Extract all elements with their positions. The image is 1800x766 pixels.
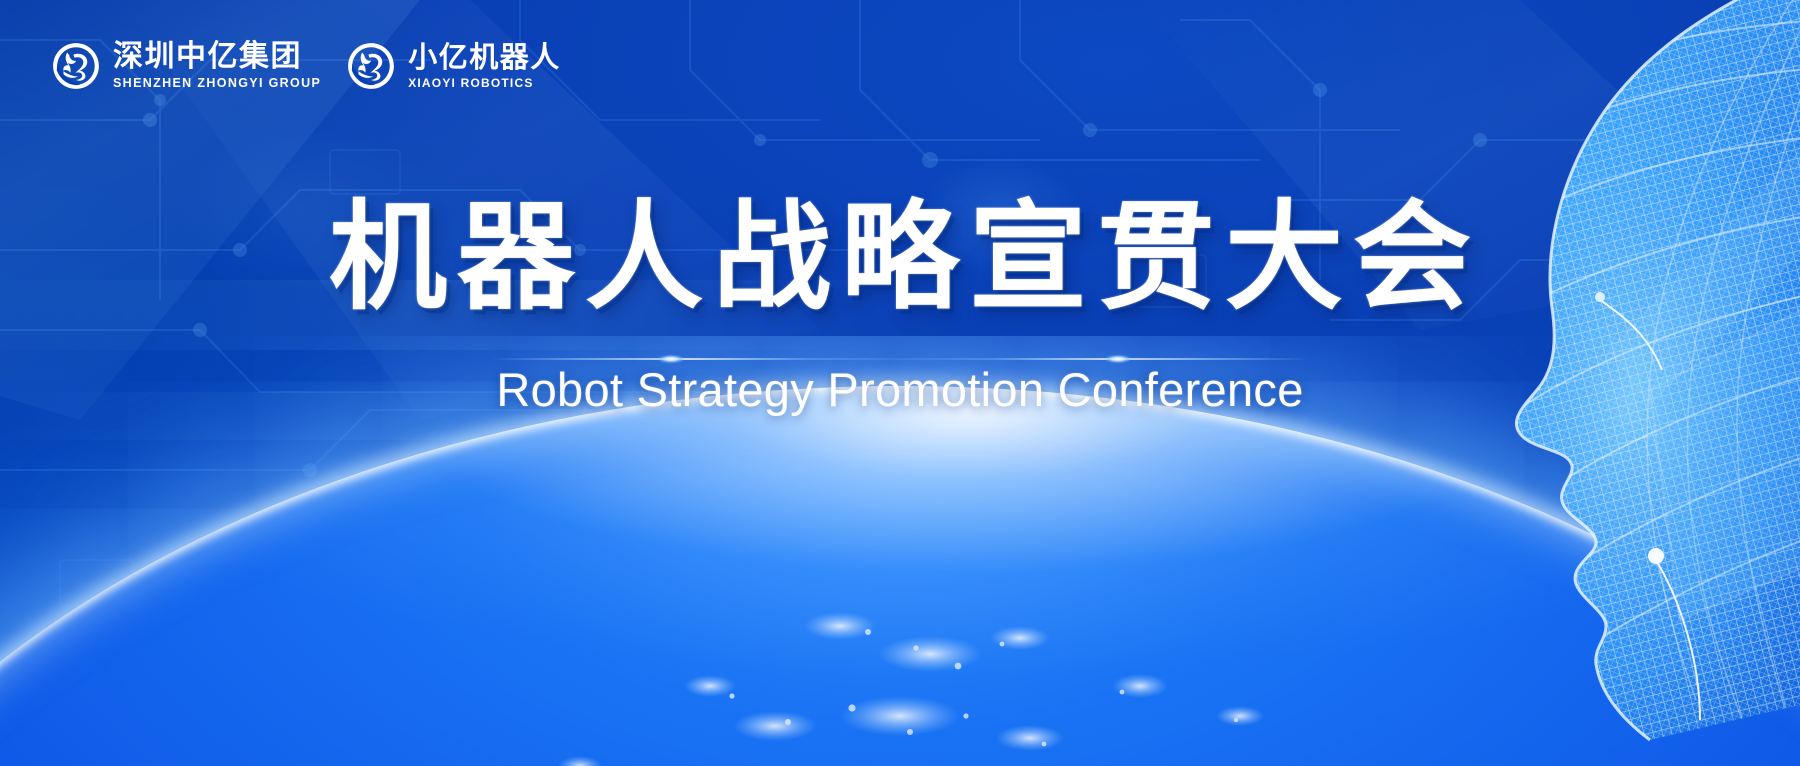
logo-en-name: XIAOYI ROBOTICS — [408, 77, 561, 89]
title-block: 机器人战略宣贯大会 — [0, 196, 1800, 320]
zhongyi-phoenix-circle-icon — [50, 40, 102, 92]
page-subtitle: Robot Strategy Promotion Conference — [496, 362, 1303, 417]
subtitle-block: Robot Strategy Promotion Conference — [0, 362, 1800, 417]
page-title: 机器人战略宣贯大会 — [319, 196, 1481, 320]
logo-cn-name: 小亿机器人 — [408, 43, 561, 72]
logo-row: 深圳中亿集团 SHENZHEN ZHONGYI GROUP 小亿机器人 XIAO… — [50, 40, 561, 92]
xiaoyi-phoenix-circle-icon — [345, 40, 397, 92]
divider-line — [435, 358, 1365, 360]
city-lights-icon — [0, 386, 1800, 766]
logo-xiaoyi-robotics[interactable]: 小亿机器人 XIAOYI ROBOTICS — [345, 40, 561, 92]
logo-shenzhen-zhongyi-group[interactable]: 深圳中亿集团 SHENZHEN ZHONGYI GROUP — [50, 40, 321, 92]
conference-banner: 深圳中亿集团 SHENZHEN ZHONGYI GROUP 小亿机器人 XIAO… — [0, 0, 1800, 766]
logo-cn-name: 深圳中亿集团 — [113, 42, 321, 72]
logo-en-name: SHENZHEN ZHONGYI GROUP — [113, 77, 321, 90]
